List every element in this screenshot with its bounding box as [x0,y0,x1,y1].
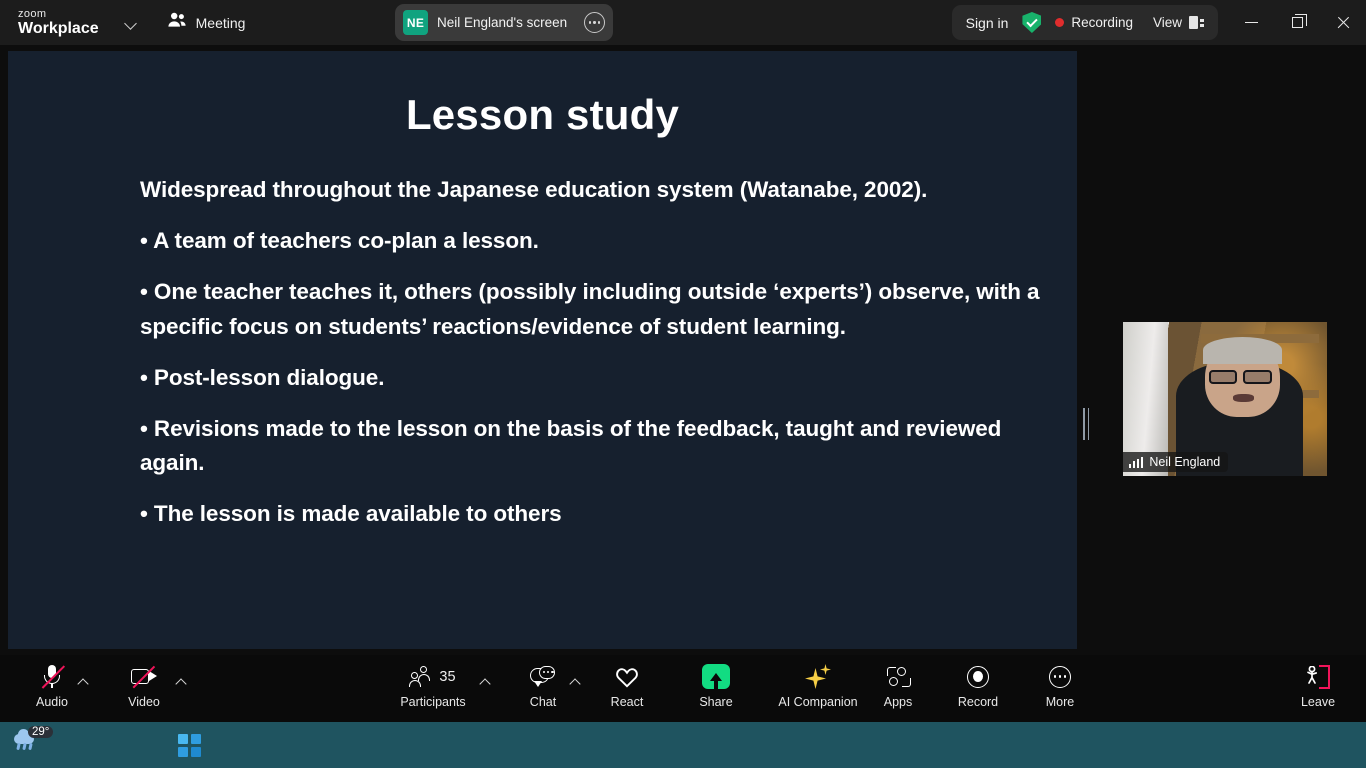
slide-body: Widespread throughout the Japanese educa… [140,173,1047,532]
video-person-mouth [1233,394,1253,402]
video-person-glasses [1243,370,1272,384]
weather-temperature: 29° [28,726,53,738]
apps-icon [886,663,911,690]
windows-taskbar: 29° Search [0,722,1366,768]
toolbar-ai-companion-label: AI Companion [778,695,857,709]
people-icon [167,12,187,33]
microphone-muted-icon [40,663,64,690]
toolbar-participants-button[interactable]: 35 Participants [390,663,476,717]
more-icon [1049,663,1071,690]
toolbar-more-button[interactable]: More [1017,663,1103,717]
slide-title: Lesson study [8,91,1077,139]
toolbar-react-button[interactable]: React [584,663,670,717]
toolbar-audio-label: Audio [36,695,68,709]
recording-status[interactable]: Recording [1055,15,1133,30]
rain-cloud-icon: 29° [14,728,40,752]
sparkle-icon [804,663,832,690]
recording-dot-icon [1055,18,1064,27]
slide-paragraph: • Revisions made to the lesson on the ba… [140,412,1047,480]
participants-options-caret-icon[interactable] [480,677,492,689]
toolbar-audio-button[interactable]: Audio [9,663,95,717]
restore-icon[interactable] [1274,0,1320,45]
toolbar-leave-button[interactable]: Leave [1275,663,1361,717]
participants-count: 35 [439,669,455,685]
toolbar-record-button[interactable]: Record [935,663,1021,717]
view-label: View [1153,15,1182,30]
slide-paragraph: • The lesson is made available to others [140,497,1047,531]
slide-paragraph: Widespread throughout the Japanese educa… [140,173,1047,207]
layout-icon [1189,16,1204,29]
toolbar-chat-button[interactable]: Chat [500,663,586,717]
meeting-toolbar: Audio Video 35 Participants Chat [0,655,1366,722]
view-button[interactable]: View [1153,15,1204,30]
toolbar-leave-label: Leave [1301,695,1335,709]
zoom-meeting-window: zoom Workplace Meeting NE Neil England's… [0,0,1366,768]
chat-bubble-icon [530,663,556,690]
more-options-icon[interactable] [584,12,605,33]
logo-big-text: Workplace [18,21,99,37]
leave-door-icon [1304,663,1332,690]
toolbar-share-button[interactable]: Share [673,663,759,717]
minimize-icon[interactable] [1228,0,1274,45]
shared-screen-slide[interactable]: Lesson study Widespread throughout the J… [8,51,1077,649]
slide-paragraph: • One teacher teaches it, others (possib… [140,275,1047,343]
window-controls [1228,0,1366,45]
video-person-glasses [1209,370,1238,384]
chat-options-caret-icon[interactable] [570,677,582,689]
video-person-hair [1203,337,1283,363]
screen-share-indicator[interactable]: NE Neil England's screen [395,4,613,41]
share-pill-label: Neil England's screen [437,15,567,30]
toolbar-share-label: Share [699,695,732,709]
chevron-down-icon[interactable] [125,18,139,32]
participant-name-badge: Neil England [1123,452,1228,472]
shield-check-icon[interactable] [1022,12,1041,33]
record-icon [967,663,989,690]
meeting-button[interactable]: Meeting [167,12,246,33]
audio-options-caret-icon[interactable] [78,677,90,689]
toolbar-video-label: Video [128,695,160,709]
recording-label: Recording [1071,15,1133,30]
camera-muted-icon [130,663,158,690]
meeting-label: Meeting [196,15,246,31]
sign-in-button[interactable]: Sign in [966,15,1009,31]
participant-video-tile[interactable]: Neil England [1123,322,1327,476]
participant-name: Neil England [1149,455,1220,469]
logo-small-text: zoom [18,9,99,20]
avatar: NE [403,10,428,35]
toolbar-video-button[interactable]: Video [101,663,187,717]
resize-handle-icon[interactable] [1082,407,1090,441]
windows-start-icon[interactable] [178,734,201,757]
toolbar-participants-label: Participants [400,695,465,709]
slide-paragraph: • A team of teachers co-plan a lesson. [140,224,1047,258]
toolbar-more-label: More [1046,695,1074,709]
video-options-caret-icon[interactable] [176,677,188,689]
toolbar-record-label: Record [958,695,998,709]
signal-bars-icon [1129,457,1143,468]
toolbar-react-label: React [611,695,644,709]
weather-widget[interactable]: 29° [14,728,40,752]
titlebar-right-group: Sign in Recording View [952,5,1218,40]
meeting-stage: Lesson study Widespread throughout the J… [0,45,1366,655]
title-bar: zoom Workplace Meeting NE Neil England's… [0,0,1366,45]
slide-paragraph: • Post-lesson dialogue. [140,361,1047,395]
toolbar-apps-button[interactable]: Apps [855,663,941,717]
heart-icon [615,663,639,690]
toolbar-ai-companion-button[interactable]: AI Companion [768,663,868,717]
zoom-workplace-logo: zoom Workplace [18,9,99,37]
share-screen-icon [702,663,730,690]
people-icon [410,666,434,687]
toolbar-apps-label: Apps [884,695,913,709]
toolbar-chat-label: Chat [530,695,556,709]
close-icon[interactable] [1320,0,1366,45]
